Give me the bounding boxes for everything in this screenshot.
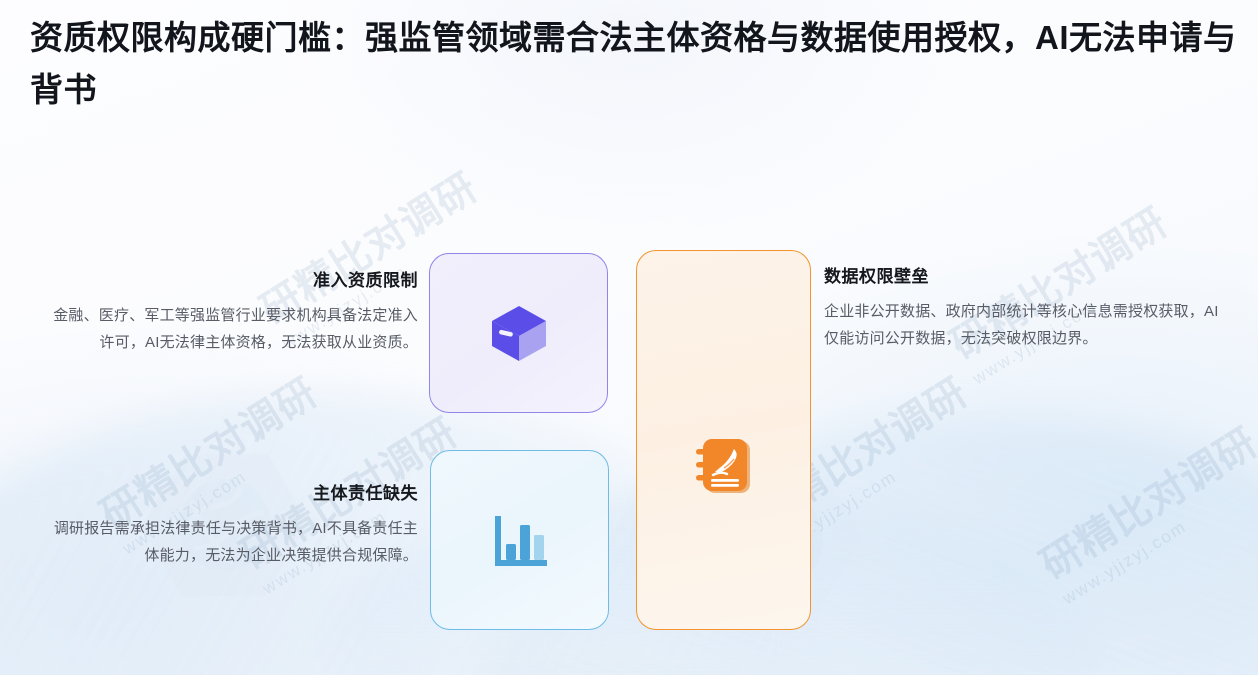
bar-chart-icon [491, 514, 549, 566]
card-entry-qualification[interactable] [429, 253, 608, 413]
block-heading: 主体责任缺失 [40, 479, 418, 504]
block-body: 企业非公开数据、政府内部统计等核心信息需授权获取，AI仅能访问公开数据，无法突破… [824, 298, 1220, 352]
block-heading: 数据权限壁垒 [824, 262, 1220, 287]
card-data-permission-barrier[interactable] [636, 250, 811, 630]
notebook-quill-icon [693, 436, 755, 498]
text-block-entry-qualification: 准入资质限制 金融、医疗、军工等强监管行业要求机构具备法定准入许可，AI无法律主… [40, 266, 418, 356]
block-body: 调研报告需承担法律责任与决策背书，AI不具备责任主体能力，无法为企业决策提供合规… [40, 515, 418, 569]
slide-stage: 资质权限构成硬门槛：强监管领域需合法主体资格与数据使用授权，AI无法申请与背书 … [0, 0, 1258, 675]
slide-title: 资质权限构成硬门槛：强监管领域需合法主体资格与数据使用授权，AI无法申请与背书 [30, 12, 1245, 116]
card-content [430, 254, 607, 412]
block-heading: 准入资质限制 [40, 266, 418, 291]
text-block-liability-absence: 主体责任缺失 调研报告需承担法律责任与决策背书，AI不具备责任主体能力，无法为企… [40, 479, 418, 569]
card-content [431, 451, 608, 629]
block-body: 金融、医疗、军工等强监管行业要求机构具备法定准入许可，AI无法律主体资格，无法获… [40, 302, 418, 356]
text-block-data-permission-barrier: 数据权限壁垒 企业非公开数据、政府内部统计等核心信息需授权获取，AI仅能访问公开… [824, 262, 1220, 352]
card-liability-absence[interactable] [430, 450, 609, 630]
box-3d-icon [491, 304, 547, 362]
